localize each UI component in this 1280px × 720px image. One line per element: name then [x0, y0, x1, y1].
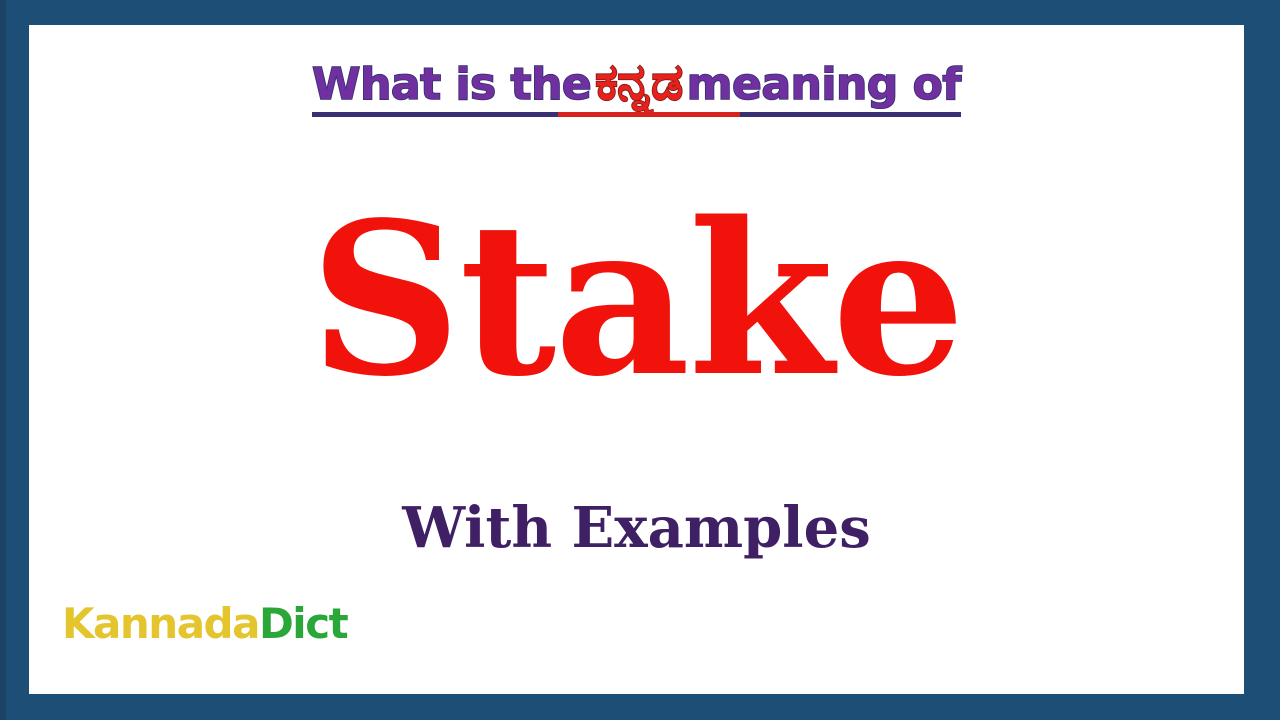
logo-text-kannada: Kannada [62, 599, 259, 648]
underline-segment-right [740, 112, 961, 117]
headline-suffix: meaning of [687, 59, 961, 110]
headline-inner: What is theಕನ್ನಡmeaning of [312, 57, 961, 113]
underline-segment-middle [558, 112, 740, 117]
subtitle: With Examples [29, 500, 1244, 556]
headline-kannada-word: ಕನ್ನಡ [591, 53, 686, 111]
headline-underline [312, 112, 961, 117]
brand-logo[interactable]: KannadaDict [62, 603, 347, 645]
logo-text-dict: Dict [259, 599, 347, 648]
slide-canvas: What is theಕನ್ನಡmeaning of Stake With Ex… [29, 25, 1244, 694]
headline: What is theಕನ್ನಡmeaning of [29, 57, 1244, 113]
slide-frame: What is theಕನ್ನಡmeaning of Stake With Ex… [0, 0, 1280, 720]
headline-prefix: What is the [312, 59, 591, 110]
underline-segment-left [312, 112, 558, 117]
main-word: Stake [29, 195, 1244, 405]
